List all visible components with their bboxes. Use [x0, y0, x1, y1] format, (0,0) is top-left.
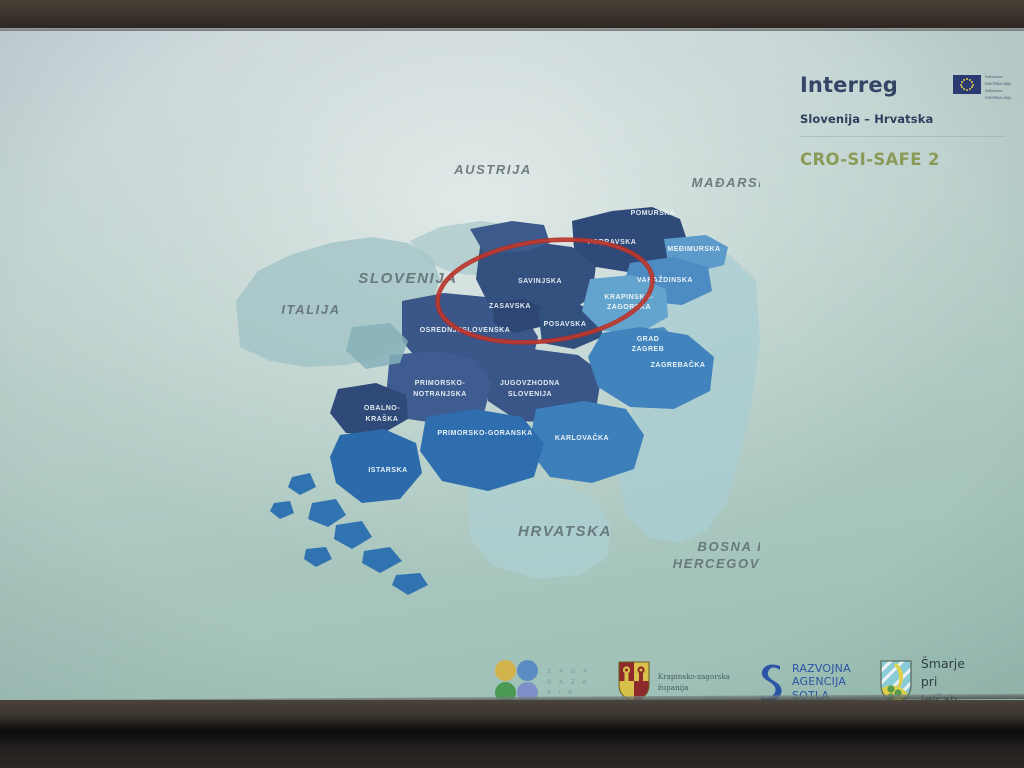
map-region-label: ZAGORSKA	[607, 304, 651, 311]
eu-text-line3: Sofinancira	[985, 89, 1011, 93]
programme-name: Slovenija – Hrvatska	[800, 112, 1005, 126]
smarje-line-1: Šmarje	[921, 655, 965, 673]
map-region-label: JUGOVZHODNA	[500, 380, 560, 387]
programme-area-map: POMURSKAPODRAVSKAMEĐIMURSKASAVINJSKAVARA…	[140, 151, 760, 611]
map-country-label: HRVATSKA	[518, 523, 612, 540]
zara-dots-icon	[495, 660, 539, 700]
map-region-label: PRIMORSKO-	[415, 380, 466, 387]
room-ceiling-band	[0, 0, 1024, 29]
map-country-label: BOSNA I	[698, 539, 760, 554]
smarje-logo-text: Šmarje pri Jelšah	[921, 655, 965, 700]
photographed-slide: Interreg Sufinancira EUROPSKA UNIJA Sofi…	[0, 0, 1024, 768]
map-region-label: OBALNO-	[364, 405, 400, 412]
map-region-label: NOTRANJSKA	[413, 391, 467, 398]
interreg-brand: Interreg	[800, 75, 898, 96]
map-region-label: POSAVSKA	[544, 321, 587, 328]
smarje-pri-jelsah-logo: Šmarje pri Jelšah	[879, 655, 965, 700]
smarje-line-2: pri	[921, 673, 965, 691]
sotla-line-1: RAZVOJNA	[792, 662, 851, 675]
map-region-label: KRAŠKA	[366, 414, 399, 423]
map-region-label: SAVINJSKA	[518, 278, 562, 285]
map-region-label: VARAŽDINSKA	[637, 275, 693, 284]
map-region-label: ZASAVSKA	[489, 303, 531, 310]
map-region-label: ZAGREBAČKA	[651, 360, 706, 369]
eu-flag-block: Sufinancira EUROPSKA UNIJA Sofinancira E…	[953, 75, 1005, 103]
map-region-label: PRIMORSKO-GORANSKA	[437, 430, 532, 437]
map-region-label: KARLOVAČKA	[555, 433, 609, 442]
sotla-line-2: AGENCIJA	[792, 675, 851, 688]
sotla-s-icon	[758, 661, 784, 700]
zara-text-row-2: R A Z A	[547, 677, 590, 688]
map-region-label: ZAGREB	[632, 346, 665, 353]
eu-text-line4: EVROPSKA UNIJA	[985, 96, 1011, 100]
map-region-label: SLOVENIJA	[508, 391, 552, 398]
krapinsko-zagorska-zupanija-logo: Krapinsko-zagorska županija	[618, 661, 730, 700]
zara-logo-text: Z A G A R A Z A A I A	[547, 666, 590, 698]
slide-header: Interreg Sufinancira EUROPSKA UNIJA Sofi…	[800, 75, 1005, 169]
map-country-label: HERCEGOVINA	[673, 556, 760, 571]
map-region-label: MEĐIMURSKA	[667, 246, 720, 253]
eu-text-line1: Sufinancira	[985, 75, 1011, 79]
zara-logo: Z A G A R A Z A A I A	[495, 660, 590, 700]
footer-logo-strip: Z A G A R A Z A A I A	[495, 643, 965, 700]
header-divider	[800, 136, 1005, 137]
eu-text-line2: EUROPSKA UNIJA	[985, 82, 1011, 86]
map-country-label: ITALIJA	[281, 302, 340, 317]
eu-funding-text: Sufinancira EUROPSKA UNIJA Sofinancira E…	[985, 75, 1011, 103]
kzz-line-2: županija	[658, 682, 730, 693]
kzz-line-1: Krapinsko-zagorska	[658, 671, 730, 682]
map-country-label: MAĐARSKA	[692, 175, 760, 190]
project-title: CRO-SI-SAFE 2	[800, 150, 1005, 169]
kzz-coat-of-arms-icon	[618, 661, 650, 700]
map-region-label: GRAD	[637, 336, 660, 343]
map-region-label: ISTARSKA	[368, 467, 407, 474]
map-region-label: POMURSKA	[631, 210, 676, 217]
projection-screen: Interreg Sufinancira EUROPSKA UNIJA Sofi…	[0, 31, 1024, 700]
eu-flag-icon	[953, 75, 981, 94]
map-country-label: AUSTRIJA	[453, 162, 532, 177]
kzz-logo-text: Krapinsko-zagorska županija	[658, 671, 730, 693]
zara-text-row-1: Z A G A	[547, 666, 590, 677]
room-floor-band	[0, 700, 1024, 768]
